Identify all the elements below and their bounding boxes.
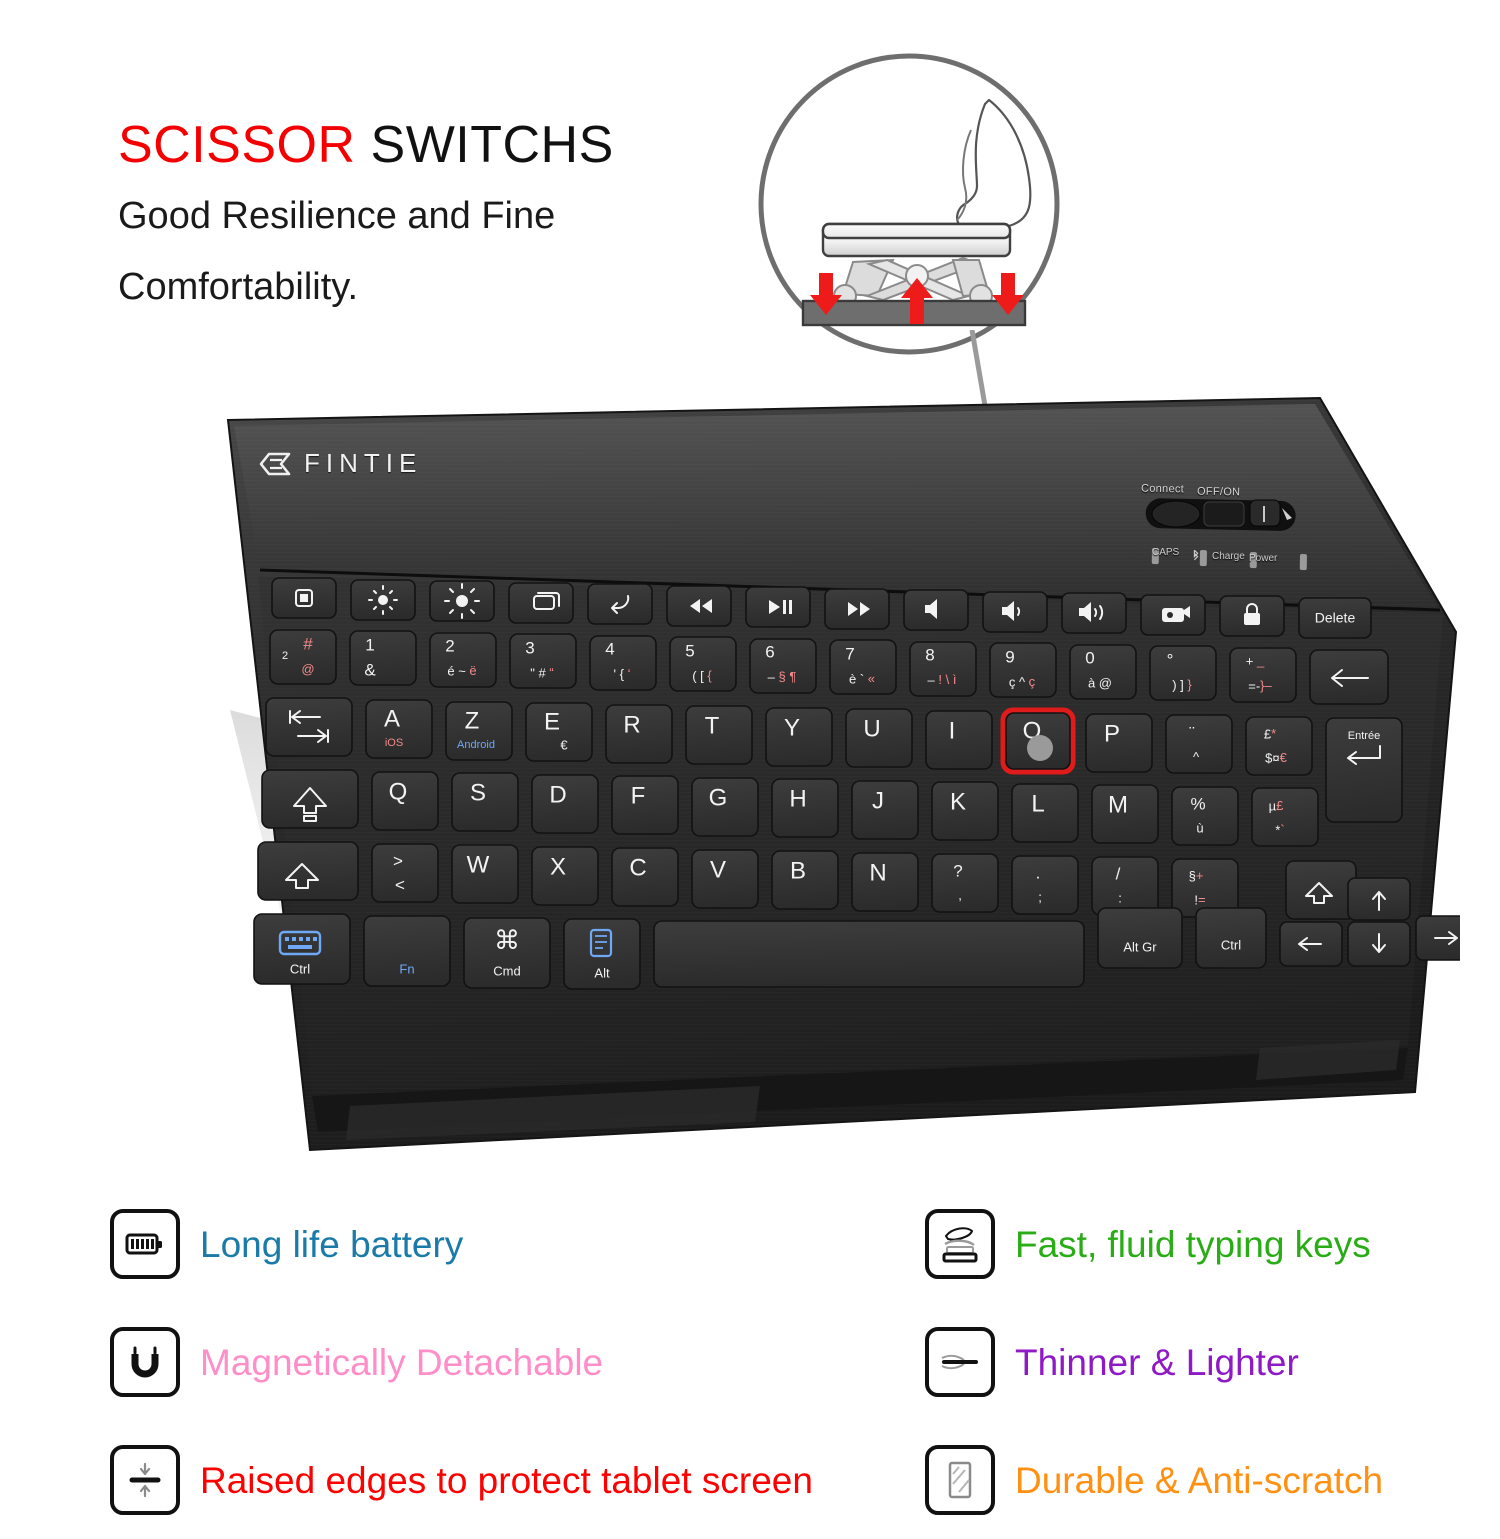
- feature-list: Long life battery Fast, fluid typing key…: [110, 1185, 1470, 1539]
- feature-thinner-lighter: Thinner & Lighter: [925, 1303, 1470, 1421]
- charge-led-label: Charge: [1212, 551, 1245, 562]
- page-title: SCISSOR SWITCHS: [118, 118, 758, 173]
- feature-durable-anti-scratch: Durable & Anti-scratch: [925, 1421, 1470, 1539]
- scissor-switch-inset: [757, 8, 1062, 408]
- power-switch-label: OFF/ON: [1197, 486, 1241, 499]
- brand-name: FINTIE: [304, 448, 422, 479]
- connect-switch-label: Connect: [1141, 483, 1184, 496]
- headline-block: SCISSOR SWITCHS Good Resilience and Fine…: [118, 118, 758, 315]
- caps-led-label: CAPS: [1152, 547, 1179, 558]
- battery-icon: [110, 1209, 180, 1279]
- subtitle-line-2: Comfortability.: [118, 260, 758, 315]
- scratch-panel-icon: [925, 1445, 995, 1515]
- typing-hand-icon: [925, 1209, 995, 1279]
- feature-raised-edges: Raised edges to protect tablet screen: [110, 1421, 925, 1539]
- bluetooth-icon: [1192, 549, 1200, 564]
- title-highlight: SCISSOR: [118, 116, 356, 174]
- feature-label: Raised edges to protect tablet screen: [200, 1462, 813, 1499]
- product-infographic: SCISSOR SWITCHS Good Resilience and Fine…: [0, 0, 1500, 1500]
- feature-label: Long life battery: [200, 1226, 463, 1263]
- brand-logo: FINTIE: [258, 448, 422, 479]
- feature-label: Durable & Anti-scratch: [1015, 1462, 1383, 1499]
- title-rest: SWITCHS: [356, 116, 614, 174]
- feature-magnetically-detachable: Magnetically Detachable: [110, 1303, 925, 1421]
- feature-label: Fast, fluid typing keys: [1015, 1226, 1371, 1263]
- feature-fast-fluid-typing: Fast, fluid typing keys: [925, 1185, 1470, 1303]
- keyboard-product-photo: [200, 380, 1460, 1180]
- thin-profile-icon: [925, 1327, 995, 1397]
- subtitle-line-1: Good Resilience and Fine: [118, 189, 758, 244]
- feature-label: Thinner & Lighter: [1015, 1344, 1299, 1381]
- feature-long-life-battery: Long life battery: [110, 1185, 925, 1303]
- fintie-mark-icon: [258, 449, 292, 479]
- magnet-icon: [110, 1327, 180, 1397]
- feature-label: Magnetically Detachable: [200, 1344, 603, 1381]
- raised-edge-icon: [110, 1445, 180, 1515]
- power-led-label: Power: [1249, 553, 1277, 564]
